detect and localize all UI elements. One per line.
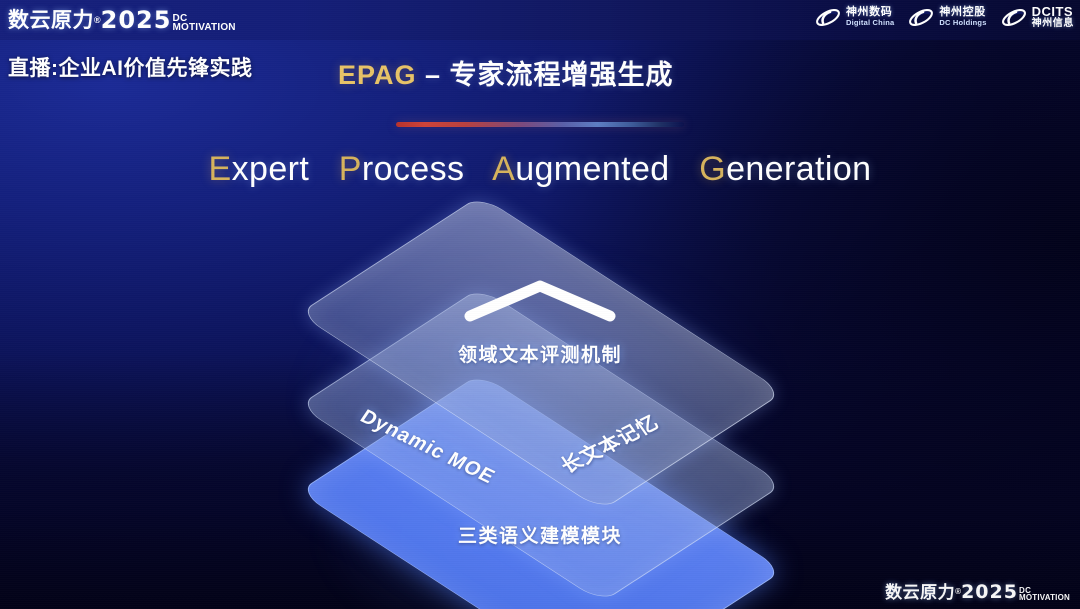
partner-name-en: DC Holdings (939, 19, 986, 27)
registered-mark-icon: ® (955, 587, 961, 596)
partner-logo-text: 神州数码 Digital China (846, 7, 894, 26)
subtitle-word: Generation (699, 150, 871, 188)
subtitle-word: Augmented (492, 150, 670, 188)
page-title: EPAG – 专家流程增强生成 (338, 53, 674, 92)
subtitle-word-initial: E (209, 150, 232, 188)
event-logo-year: 2025 (101, 6, 172, 34)
event-logo-motivation: MOTIVATION (172, 23, 235, 33)
stack-layer-bottom-label: 三类语义建模模块 (458, 521, 622, 548)
partner-logo-text: DCITS 神州信息 (1032, 5, 1074, 29)
partner-logo-text: 神州控股 DC Holdings (939, 7, 986, 26)
swirl-icon (1001, 7, 1027, 28)
partner-logo-dcits: DCITS 神州信息 (1001, 5, 1074, 29)
subtitle-word-rest: rocess (362, 150, 465, 188)
registered-mark-icon: ® (94, 15, 101, 25)
event-logo-cn: 数云原力 (8, 4, 94, 34)
partner-logo-group: 神州数码 Digital China 神州控股 DC Holdings (815, 5, 1074, 29)
watermark-logo-motivation: MOTIVATION (1019, 594, 1070, 602)
watermark-logo-cn: 数云原力 (885, 578, 955, 603)
gradient-divider (396, 122, 684, 127)
subtitle-word-initial: G (699, 150, 726, 188)
stack-layer-top-label: 领域文本评测机制 (458, 340, 622, 367)
watermark-logo-dcm: DC MOTIVATION (1019, 587, 1070, 603)
swirl-icon (908, 7, 934, 28)
partner-name-en: DCITS (1032, 5, 1074, 19)
live-stream-label: 直播:企业AI价值先锋实践 (8, 52, 253, 82)
subtitle-space (474, 150, 484, 188)
event-logo: 数云原力 ® 2025 DC MOTIVATION (8, 4, 236, 34)
slide-canvas: 数云原力 ® 2025 DC MOTIVATION 神州数码 Digital C… (0, 0, 1080, 609)
partner-name-en: Digital China (846, 19, 894, 27)
subtitle-word-initial: P (339, 150, 362, 188)
subtitle-word-rest: ugmented (515, 150, 669, 188)
swirl-icon (815, 7, 841, 28)
subtitle-space (679, 150, 689, 188)
partner-logo-dc-holdings: 神州控股 DC Holdings (908, 7, 986, 28)
page-title-rest: – 专家流程增强生成 (417, 60, 674, 90)
partner-logo-digital-china: 神州数码 Digital China (815, 7, 894, 28)
subtitle-word-rest: xpert (232, 150, 310, 188)
watermark-logo-year: 2025 (961, 581, 1018, 603)
subtitle-word-initial: A (492, 150, 515, 188)
subtitle-word: Process (339, 150, 465, 188)
layer-stack-diagram: 领域文本评测机制 Dynamic MOE 长文本记忆 三类语义建模模块 (280, 238, 800, 578)
subtitle-space (319, 150, 329, 188)
watermark-logo: 数云原力 ® 2025 DC MOTIVATION (885, 578, 1070, 603)
chevron-up-icon (462, 278, 618, 324)
event-logo-dcm: DC MOTIVATION (172, 14, 235, 34)
partner-name-cn: 神州信息 (1032, 19, 1074, 30)
page-title-highlight: EPAG (338, 60, 417, 90)
subtitle-word: Expert (209, 150, 310, 188)
subtitle: Expert Process Augmented Generation (0, 150, 1080, 189)
subtitle-word-rest: eneration (726, 150, 871, 188)
